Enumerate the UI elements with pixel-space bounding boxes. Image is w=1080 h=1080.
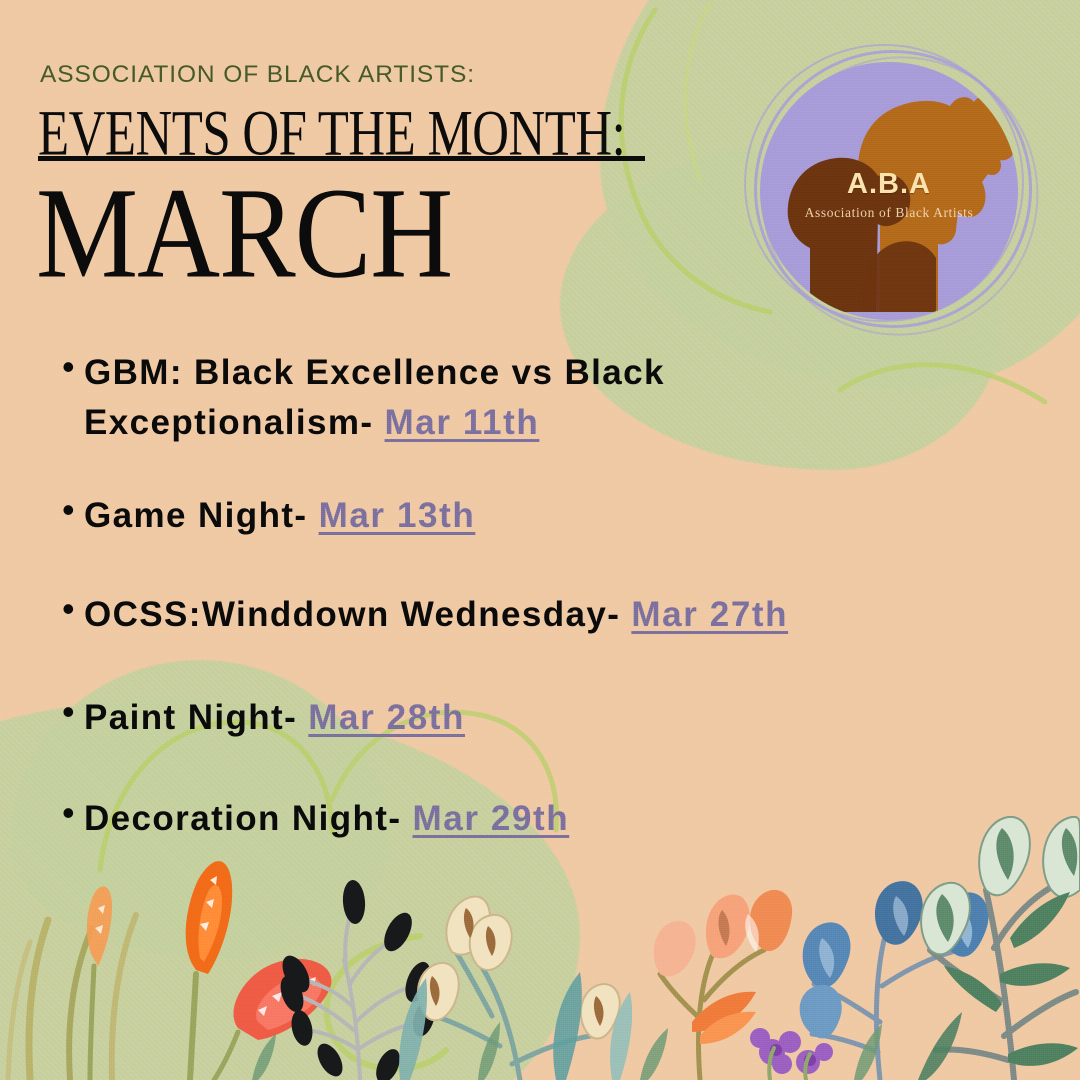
event-title: Paint Night- [84,698,308,737]
event-text: OCSS:Winddown Wednesday- Mar 27th [84,590,788,640]
event-title: GBM: Black Excellence vs Black Exception… [84,353,665,442]
bullet-icon: • [62,491,84,530]
event-text: GBM: Black Excellence vs Black Exception… [84,348,894,447]
event-text: Paint Night- Mar 28th [84,693,465,743]
list-item[interactable]: • OCSS:Winddown Wednesday- Mar 27th [62,590,1052,640]
poster-canvas: A.B.A Association of Black Artists ASSOC… [0,0,1080,1080]
event-date[interactable]: Mar 28th [308,698,465,737]
event-title: Decoration Night- [84,799,413,838]
list-item[interactable]: • GBM: Black Excellence vs Black Excepti… [62,348,1052,447]
bullet-icon: • [62,693,84,732]
list-item[interactable]: • Paint Night- Mar 28th [62,693,1052,743]
organization-kicker: ASSOCIATION OF BLACK ARTISTS: [40,61,475,89]
event-title: Game Night- [84,496,319,535]
bullet-icon: • [62,794,84,833]
aba-logo[interactable]: A.B.A Association of Black Artists [760,62,1018,320]
event-title: OCSS:Winddown Wednesday- [84,595,631,634]
bullet-icon: • [62,590,84,629]
month-title: MARCH [36,160,452,309]
events-list: • GBM: Black Excellence vs Black Excepti… [62,348,1052,896]
event-date[interactable]: Mar 11th [385,403,540,442]
event-date[interactable]: Mar 13th [319,496,476,535]
event-date[interactable]: Mar 29th [413,799,570,838]
logo-full-name: Association of Black Artists [760,205,1018,221]
list-item[interactable]: • Game Night- Mar 13th [62,491,1052,541]
event-date[interactable]: Mar 27th [631,595,788,634]
event-text: Decoration Night- Mar 29th [84,794,569,844]
event-text: Game Night- Mar 13th [84,491,475,541]
logo-acronym: A.B.A [760,168,1018,201]
list-item[interactable]: • Decoration Night- Mar 29th [62,794,1052,844]
bullet-icon: • [62,348,84,387]
